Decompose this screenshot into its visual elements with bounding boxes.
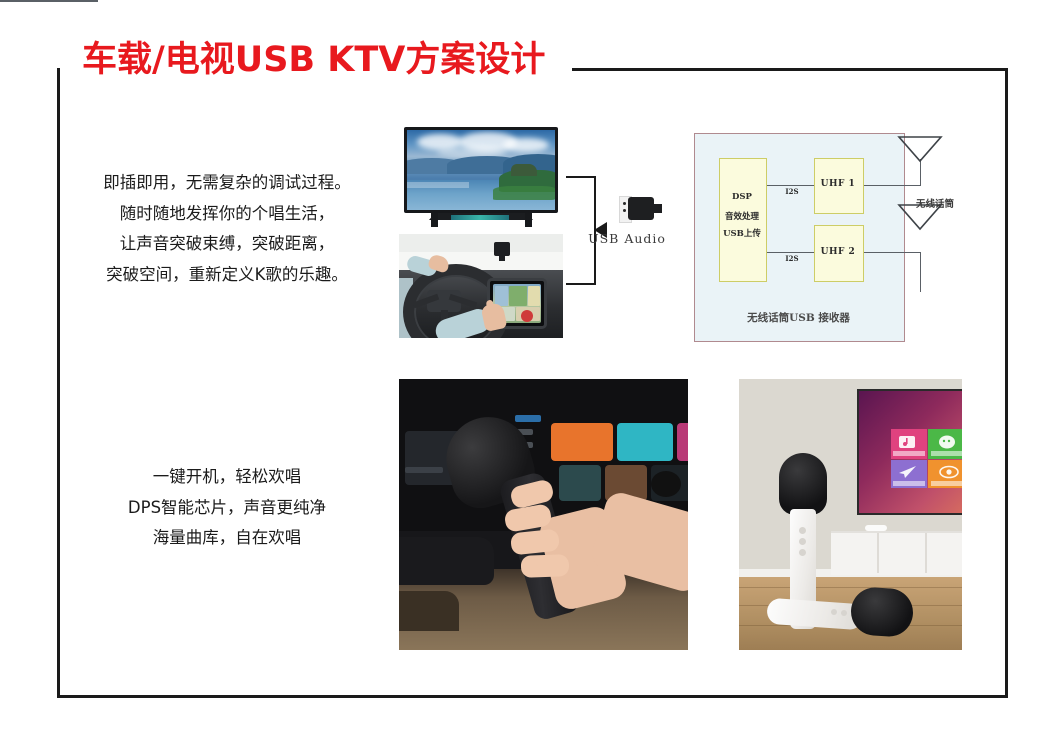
hand-holding-microphone-photo [399,379,688,650]
paragraph-line: DPS智能芯片，声音更纯净 [72,493,382,524]
feature-paragraph-bottom: 一键开机，轻松欢唱 DPS智能芯片，声音更纯净 海量曲库，自在欢唱 [72,462,382,554]
chat-tile-icon [939,434,957,450]
frame-left-edge [57,68,60,698]
microphone-button-icon [799,549,806,556]
tv-leg-right [525,213,532,227]
dsp-label-line2: 音效处理 [719,210,765,222]
car-roof [399,234,563,254]
tv-landscape-photo [399,125,563,230]
microphone-foam-head-standing [779,453,827,515]
paragraph-line: 突破空间，重新定义K歌的乐趣。 [72,260,382,291]
i2s-bus-label-1: I2S [777,187,807,196]
two-microphones-living-room-photo [739,379,962,650]
paragraph-line: 海量曲库，自在欢唱 [72,523,382,554]
tv-stand-glow [451,215,509,220]
diagram-caption: 无线话筒USB 接收器 [694,310,903,325]
paragraph-line: 即插即用，无需复杂的调试过程。 [72,168,382,199]
frame-top-edge [572,68,1008,71]
i2s-bus-label-2: I2S [777,254,807,263]
frame-right-edge [1005,68,1008,698]
eye-tile-icon [939,465,959,479]
remote-control [865,525,887,531]
music-tile-icon [899,435,917,449]
tv-screen [407,130,555,210]
usb-pin-icon [623,209,626,212]
block-diagram: DSP 音效处理 USB上传 UHF 1 UHF 2 I2S I2S 无线话筒U… [694,133,905,342]
feature-paragraph-top: 即插即用，无需复杂的调试过程。 随时随地发挥你的个唱生活， 让声音突破束缚，突破… [72,168,382,290]
paragraph-line: 随时随地发挥你的个唱生活， [72,199,382,230]
uhf2-to-antenna-wire [862,252,921,253]
tv-connector-line [566,176,596,178]
usb-pin-icon [623,202,626,205]
tv-cabinet [831,531,962,575]
uhf1-label: UHF 1 [814,179,862,189]
car-phone-mount [494,242,510,256]
page-title: 车载/电视USB KTV方案设计 [82,43,545,78]
uhf1-to-antenna-wire [862,185,921,186]
usb-audio-label: USB Audio [572,231,682,246]
car-dashboard-photo [399,234,563,338]
uhf2-label: UHF 2 [814,247,862,257]
car-connector-line [566,283,596,285]
slide-canvas: 车载/电视USB KTV方案设计 即插即用，无需复杂的调试过程。 随时随地发挥你… [0,0,1061,749]
usb-audio-link-line [0,0,98,2]
dsp-label-line1: DSP [719,192,765,202]
microphone-foam-head-lying [849,586,914,638]
microphone-button-icon [799,538,806,545]
microphone-button-icon [799,527,806,534]
tv-leg-left [431,213,438,227]
paragraph-line: 一键开机，轻松欢唱 [72,462,382,493]
usb-connector-icon [628,197,654,220]
frame-bottom-edge [57,695,1008,698]
usb-connector-tail [653,204,662,213]
antenna2-stem [920,252,921,292]
antenna-1-icon [897,135,943,163]
paragraph-line: 让声音突破束缚，突破距离， [72,229,382,260]
wireless-mic-label: 无线话筒 [900,196,970,210]
dsp-label-line3: USB上传 [719,227,765,239]
usb-audio-group: USB Audio [566,185,696,270]
send-tile-icon [899,465,917,479]
antenna1-stem [920,159,921,186]
wall-mounted-tv [857,389,962,515]
